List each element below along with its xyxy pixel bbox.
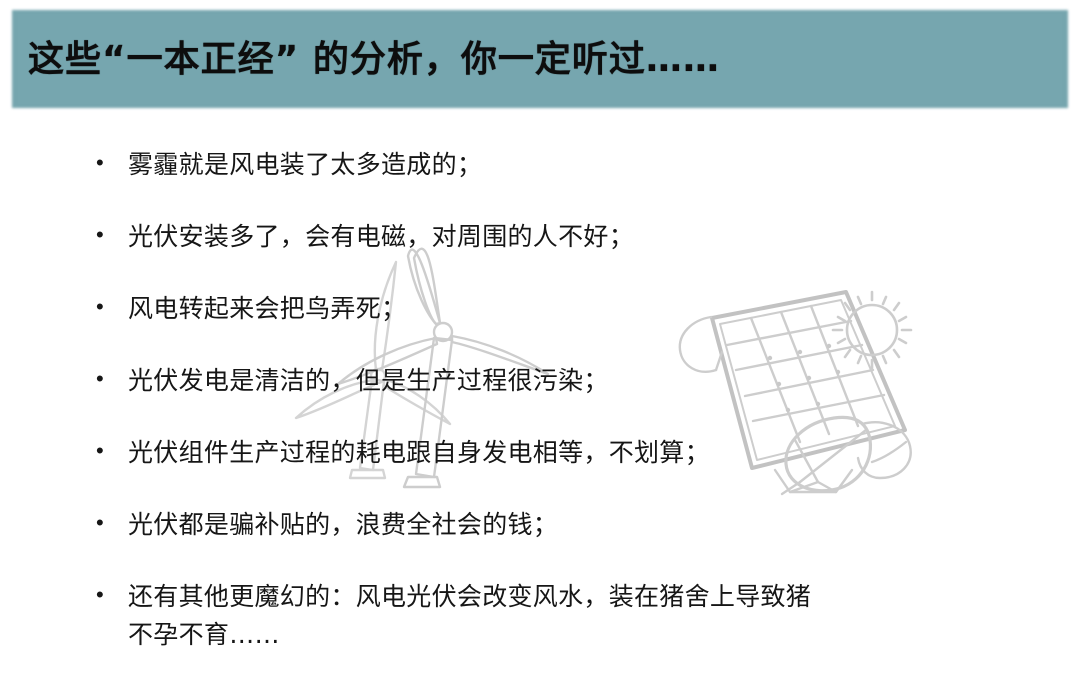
bullet-marker-icon: •: [96, 578, 128, 612]
slide-canvas: 这些“一本正经” 的分析，你一定听过……: [0, 0, 1080, 682]
list-item-text: 雾霾就是风电装了太多造成的；: [128, 146, 828, 184]
list-item-text: 光伏安装多了，会有电磁，对周围的人不好；: [128, 218, 828, 256]
bullet-marker-icon: •: [96, 290, 128, 324]
list-item: • 雾霾就是风电装了太多造成的；: [0, 146, 1080, 184]
list-item: • 光伏发电是清洁的，但是生产过程很污染；: [0, 362, 1080, 400]
bullet-marker-icon: •: [96, 218, 128, 252]
page-title: 这些“一本正经” 的分析，你一定听过……: [28, 30, 720, 82]
bullet-marker-icon: •: [96, 434, 128, 468]
bullet-list: • 雾霾就是风电装了太多造成的； • 光伏安装多了，会有电磁，对周围的人不好； …: [0, 146, 1080, 682]
bullet-marker-icon: •: [96, 146, 128, 180]
list-item: • 风电转起来会把鸟弄死；: [0, 290, 1080, 328]
list-item-text: 光伏组件生产过程的耗电跟自身发电相等，不划算；: [128, 434, 828, 472]
list-item: • 光伏组件生产过程的耗电跟自身发电相等，不划算；: [0, 434, 1080, 472]
list-item: • 还有其他更魔幻的：风电光伏会改变风水，装在猪舍上导致猪不孕不育……: [0, 578, 1080, 654]
list-item: • 光伏安装多了，会有电磁，对周围的人不好；: [0, 218, 1080, 256]
list-item-text: 风电转起来会把鸟弄死；: [128, 290, 828, 328]
list-item-text: 还有其他更魔幻的：风电光伏会改变风水，装在猪舍上导致猪不孕不育……: [128, 578, 832, 654]
bullet-marker-icon: •: [96, 362, 128, 396]
bullet-marker-icon: •: [96, 506, 128, 540]
list-item-text: 光伏发电是清洁的，但是生产过程很污染；: [128, 362, 828, 400]
list-item: • 光伏都是骗补贴的，浪费全社会的钱；: [0, 506, 1080, 544]
list-item-text: 光伏都是骗补贴的，浪费全社会的钱；: [128, 506, 828, 544]
